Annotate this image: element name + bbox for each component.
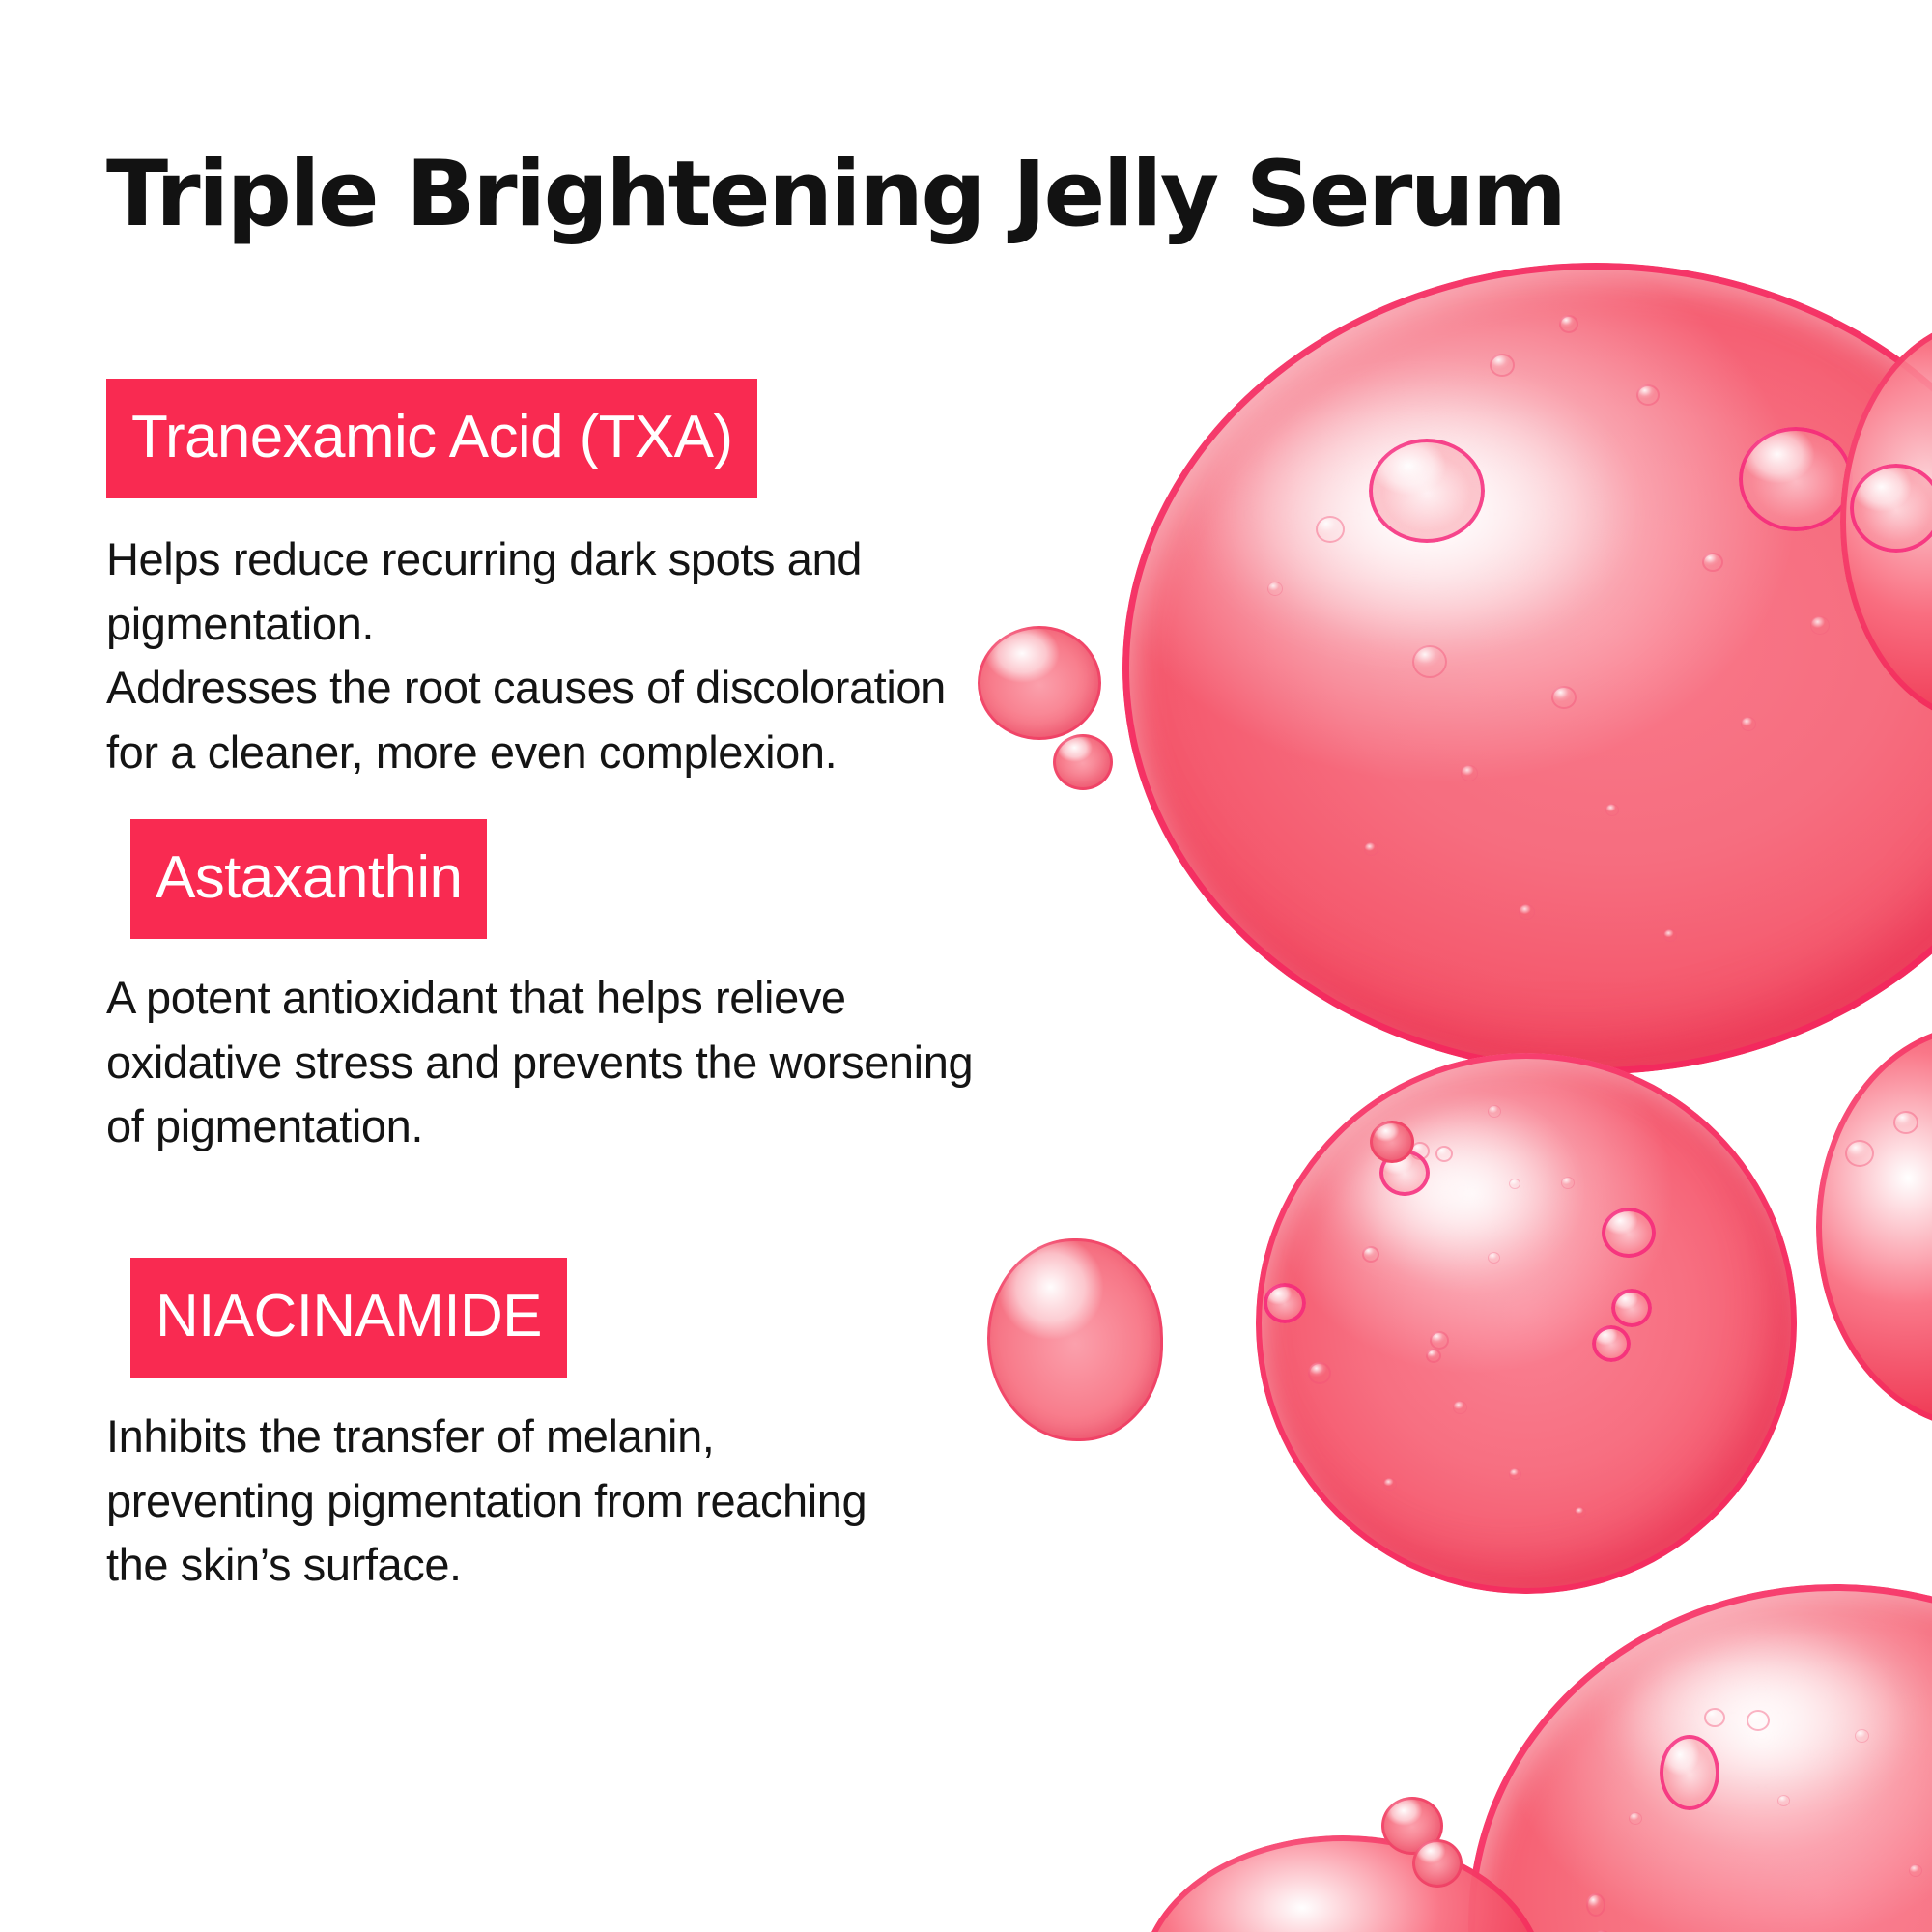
bubble-tiny xyxy=(1383,1478,1397,1491)
bubble-micro xyxy=(1704,1708,1725,1727)
bubble-micro xyxy=(1702,553,1723,572)
droplet-edge-mid-right xyxy=(1816,1024,1932,1430)
bubble-inner xyxy=(1592,1325,1631,1362)
droplet-rim xyxy=(1840,319,1932,724)
bubble-free-floating xyxy=(987,1238,1163,1441)
bubble-micro xyxy=(1845,1140,1874,1167)
bubble-micro xyxy=(1362,1246,1379,1263)
bubble-tiny xyxy=(1605,804,1619,816)
bubble-tiny xyxy=(1629,1812,1642,1825)
bubble-tiny xyxy=(1267,582,1283,596)
bubble-tiny xyxy=(1519,904,1535,920)
bubble-micro xyxy=(1551,686,1577,709)
bubble-micro xyxy=(1490,354,1515,377)
bubble-micro xyxy=(1747,1710,1770,1731)
bubble-micro xyxy=(1412,645,1447,678)
bubble-tiny xyxy=(1810,616,1830,635)
bubble-micro xyxy=(1426,1349,1441,1363)
bubble-micro xyxy=(1316,516,1345,543)
droplet-body xyxy=(1468,1584,1932,1932)
droplet-middle xyxy=(1256,1053,1797,1594)
bubble-tiny xyxy=(1777,1795,1790,1806)
droplet-bottom-strip xyxy=(1140,1835,1546,1932)
droplet-body xyxy=(1840,319,1932,724)
bubble-inner xyxy=(1739,427,1853,531)
bubble-tiny xyxy=(1509,1468,1521,1480)
bubble-tiny xyxy=(1509,1179,1520,1189)
droplet-rim xyxy=(1256,1053,1797,1594)
bubble-tiny xyxy=(1741,717,1756,731)
infographic-canvas: Triple Brightening Jelly Serum Tranexami… xyxy=(0,0,1932,1932)
ingredient-badge-tranexamic-acid: Tranexamic Acid (TXA) xyxy=(106,379,757,498)
bubble-tiny xyxy=(1561,1177,1575,1189)
bubble-micro xyxy=(1410,1142,1430,1160)
bubble-inner xyxy=(1264,1283,1306,1323)
droplet-body xyxy=(1256,1053,1797,1594)
bubble-inner xyxy=(1611,1289,1652,1327)
bubble-inner xyxy=(1379,1150,1430,1196)
bubble-tiny xyxy=(1488,1252,1500,1264)
bubble-tiny xyxy=(1461,765,1478,781)
bubble-tiny xyxy=(1663,929,1677,942)
bubble-tiny xyxy=(1575,1507,1586,1518)
bubble-inner xyxy=(1660,1735,1719,1810)
bubble-tiny xyxy=(1364,842,1378,856)
page-title: Triple Brightening Jelly Serum xyxy=(106,146,1564,244)
bubble-micro xyxy=(1435,1146,1453,1162)
bubble-micro xyxy=(1308,1362,1331,1384)
bubble-tiny xyxy=(1855,1729,1869,1743)
bubble-micro xyxy=(1586,1893,1605,1917)
droplet-body xyxy=(1122,263,1932,1074)
bubble-free-floating xyxy=(1370,1121,1414,1163)
droplet-rim xyxy=(1816,1024,1932,1430)
droplet-large-bottom-right xyxy=(1468,1584,1932,1932)
ingredient-badge-niacinamide: NIACINAMIDE xyxy=(130,1258,567,1378)
droplet-sheen xyxy=(1321,1107,1570,1269)
bubble-free-floating xyxy=(1412,1839,1463,1888)
droplet-edge-top-right xyxy=(1840,319,1932,724)
bubble-free-floating xyxy=(1381,1797,1443,1855)
ingredient-badge-astaxanthin: Astaxanthin xyxy=(130,819,487,939)
droplet-body xyxy=(1816,1024,1932,1430)
ingredient-section-niacinamide: NIACINAMIDE Inhibits the transfer of mel… xyxy=(106,1258,867,1643)
bubble-micro xyxy=(1636,384,1660,406)
droplet-rim xyxy=(1140,1835,1546,1932)
droplet-body xyxy=(1140,1835,1546,1932)
bubble-inner xyxy=(1602,1207,1656,1258)
ingredient-section-astaxanthin: Astaxanthin A potent antioxidant that he… xyxy=(106,819,973,1205)
ingredient-description-astaxanthin: A potent antioxidant that helps relieve … xyxy=(106,966,973,1159)
bubble-inner xyxy=(1369,439,1485,543)
ingredient-description-tranexamic-acid: Helps reduce recurring dark spots and pi… xyxy=(106,527,1082,785)
droplet-large-top-right xyxy=(1122,263,1932,1074)
ingredient-section-tranexamic-acid: Tranexamic Acid (TXA) Helps reduce recur… xyxy=(106,379,1082,831)
bubble-tiny xyxy=(1453,1401,1467,1414)
bubble-micro xyxy=(1893,1111,1918,1134)
bubble-tiny xyxy=(1909,1864,1922,1877)
bubble-inner xyxy=(1850,464,1932,553)
droplet-sheen xyxy=(1198,377,1634,653)
bubble-tiny xyxy=(1488,1105,1501,1118)
droplet-sheen xyxy=(1601,1625,1923,1801)
bubble-micro xyxy=(1430,1331,1449,1350)
bubble-micro xyxy=(1559,315,1578,333)
ingredient-description-niacinamide: Inhibits the transfer of melanin, preven… xyxy=(106,1405,867,1598)
droplet-rim xyxy=(1468,1584,1932,1932)
droplet-rim xyxy=(1122,263,1932,1074)
